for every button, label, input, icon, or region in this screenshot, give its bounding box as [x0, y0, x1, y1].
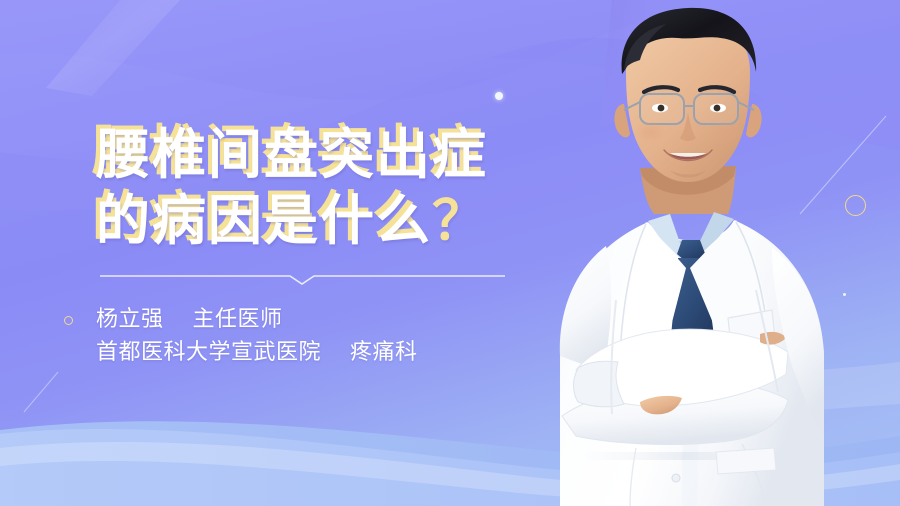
- title-line-1: 腰椎间盘突出症 腰椎间盘突出症: [96, 122, 526, 188]
- doctor-illustration: [520, 0, 900, 506]
- hospital-name: 首都医科大学宣武医院: [96, 340, 321, 365]
- title-line-2: 的病因是什么 的病因是什么？: [96, 188, 526, 254]
- question-mark: ？: [432, 189, 488, 252]
- divider-with-notch-icon: [100, 272, 505, 286]
- byline-row-affiliation: 首都医科大学宣武医院 疼痛科: [96, 336, 534, 369]
- department-name: 疼痛科: [350, 340, 418, 365]
- text-panel: 腰椎间盘突出症 腰椎间盘突出症 的病因是什么 的病因是什么？ 杨立强 主任医师: [0, 0, 560, 506]
- circle-outline-icon: [64, 316, 73, 325]
- page-title: 腰椎间盘突出症 腰椎间盘突出症 的病因是什么 的病因是什么？: [96, 122, 526, 254]
- cheek-left: [634, 121, 666, 143]
- doctor-portrait: [520, 0, 900, 506]
- byline-row-doctor: 杨立强 主任医师: [96, 303, 534, 336]
- coat-button: [672, 474, 680, 482]
- thumbnail-canvas: 腰椎间盘突出症 腰椎间盘突出症 的病因是什么 的病因是什么？ 杨立强 主任医师: [0, 0, 900, 506]
- cheek-right: [710, 121, 742, 143]
- byline: 杨立强 主任医师 首都医科大学宣武医院 疼痛科: [64, 303, 534, 369]
- sleeve-cuff-left: [574, 361, 625, 407]
- doctor-name: 杨立强: [96, 307, 164, 332]
- coat-side-pocket: [716, 448, 776, 474]
- doctor-title: 主任医师: [193, 307, 283, 332]
